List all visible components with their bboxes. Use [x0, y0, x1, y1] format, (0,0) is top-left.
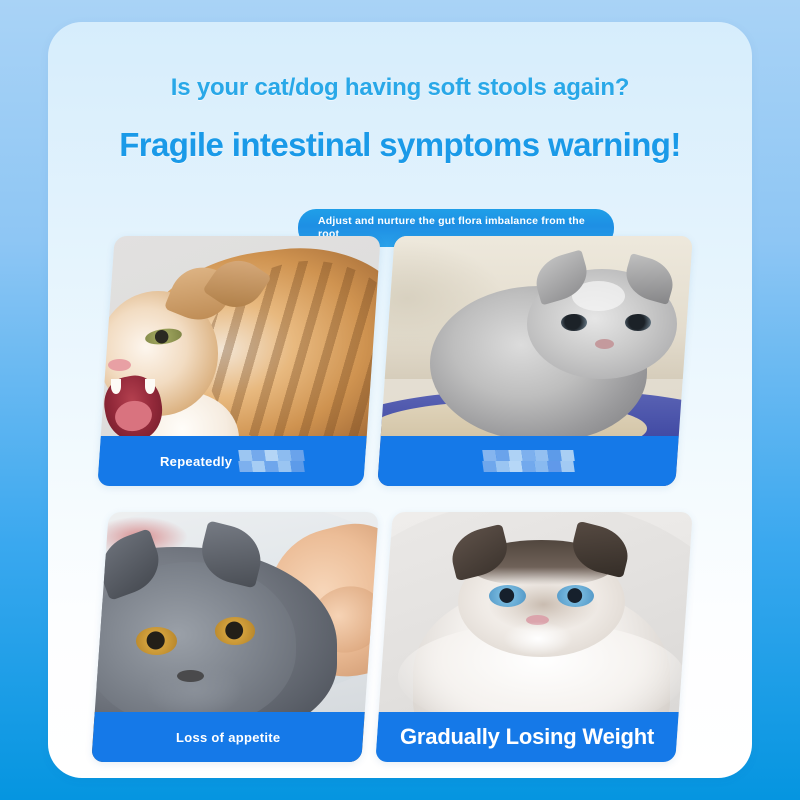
promo-poster: Is your cat/dog having soft stools again… — [0, 0, 800, 800]
caption-text: Repeatedly — [160, 454, 232, 469]
card-losing-weight-caption: Gradually Losing Weight — [375, 712, 678, 762]
card-losing-weight[interactable]: Gradually Losing Weight — [375, 512, 692, 762]
caption-text: Gradually Losing Weight — [400, 724, 654, 750]
card-meowing-cat[interactable]: Repeatedly — [97, 236, 380, 486]
card-kitten-litter-box-caption — [377, 436, 678, 486]
censored-mosaic — [239, 450, 304, 472]
card-meowing-cat-caption: Repeatedly — [97, 436, 366, 486]
poster-panel: Is your cat/dog having soft stools again… — [48, 22, 752, 778]
card-loss-of-appetite-caption: Loss of appetite — [91, 712, 364, 762]
censored-mosaic — [483, 450, 574, 472]
card-loss-of-appetite[interactable]: Loss of appetite — [91, 512, 378, 762]
caption-text: Loss of appetite — [176, 730, 280, 745]
symptom-card-grid: Repeatedly — [48, 22, 752, 778]
card-kitten-litter-box[interactable] — [377, 236, 692, 486]
